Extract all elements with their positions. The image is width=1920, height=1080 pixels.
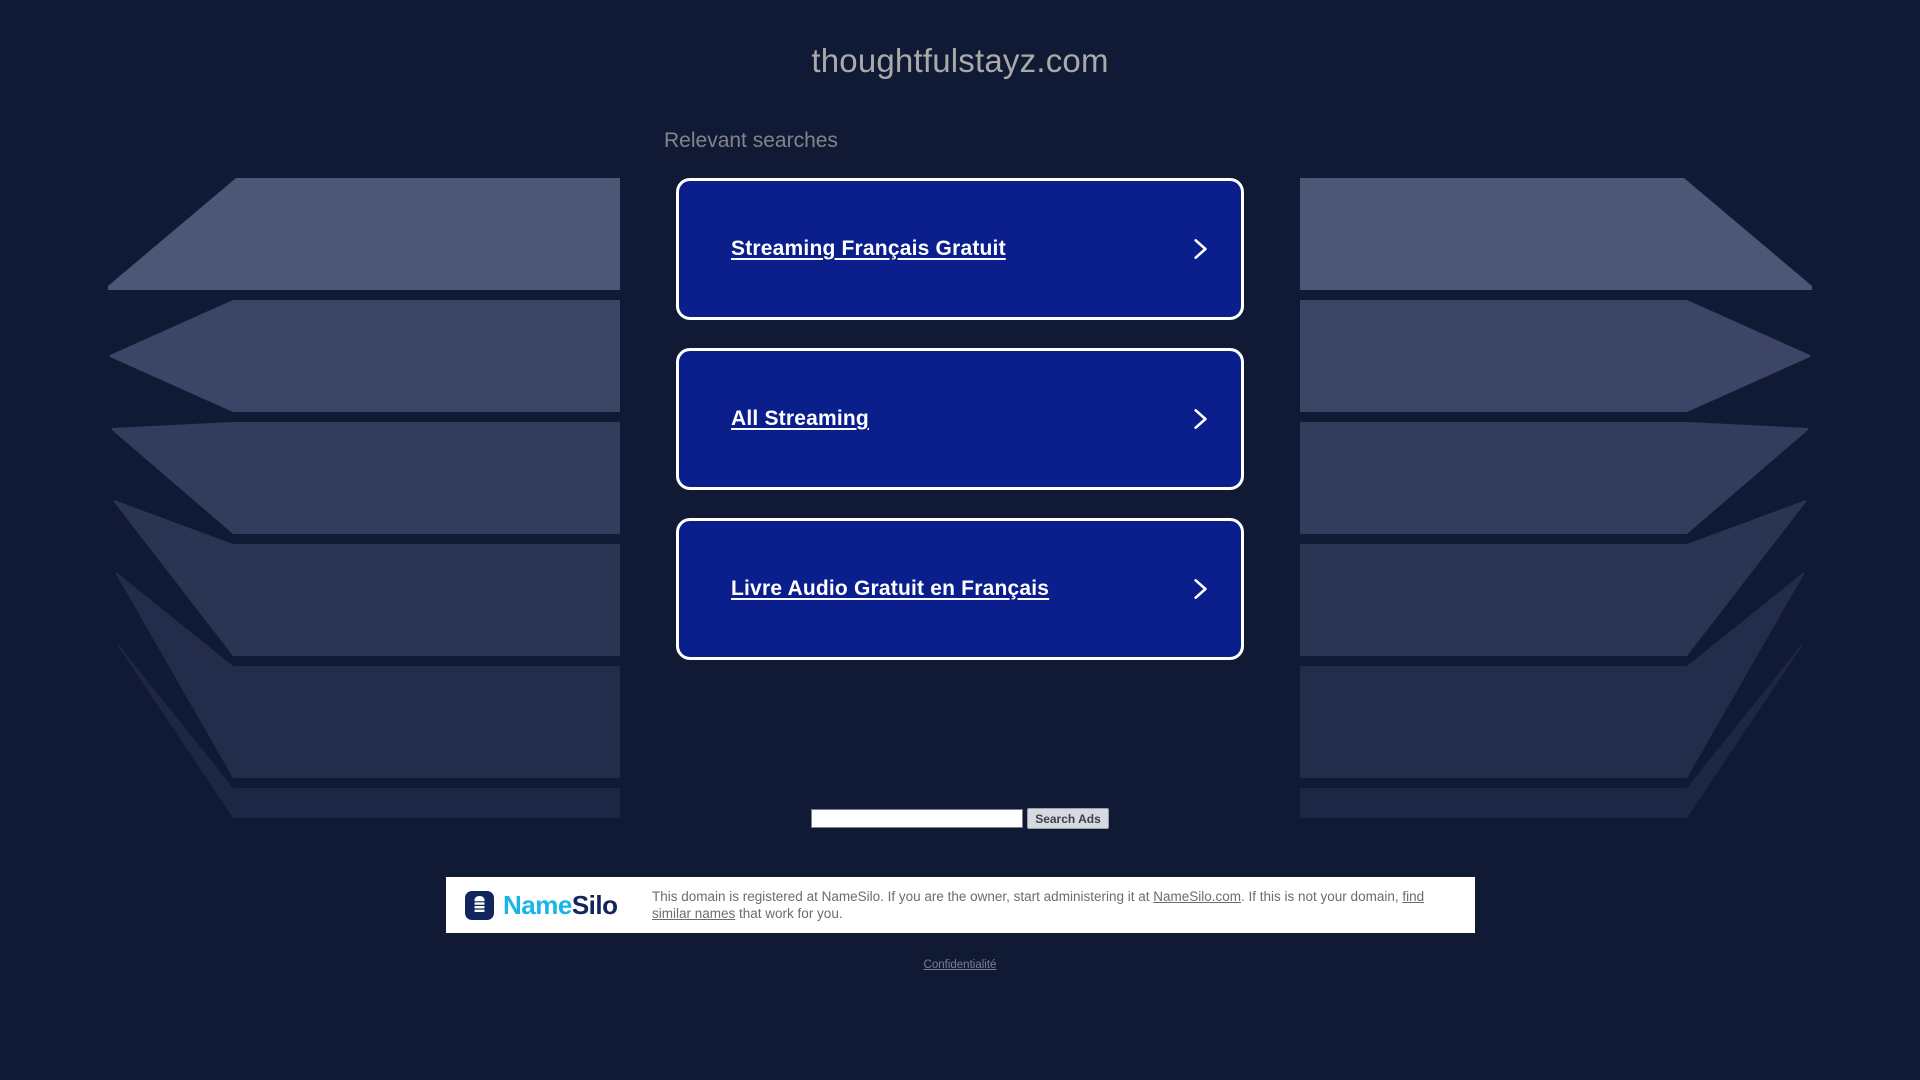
chevron-right-icon — [1187, 576, 1213, 602]
page-title: thoughtfulstayz.com — [0, 42, 1920, 80]
silo-icon — [465, 891, 494, 920]
chevron-right-icon — [1187, 236, 1213, 262]
ad-link-label-1[interactable]: Streaming Français Gratuit — [731, 237, 1006, 261]
search-input[interactable] — [811, 809, 1023, 828]
namesilo-banner: NameSilo This domain is registered at Na… — [446, 877, 1475, 933]
privacy-link[interactable]: Confidentialité — [924, 959, 997, 971]
namesilo-text-part-1: This domain is registered at NameSilo. I… — [652, 889, 1153, 904]
privacy-link-row: Confidentialité — [0, 955, 1920, 973]
search-row: Search Ads — [0, 808, 1920, 829]
namesilo-description: This domain is registered at NameSilo. I… — [652, 888, 1452, 922]
namesilo-wordmark-silo: Silo — [572, 890, 618, 920]
namesilo-text-part-2: . If this is not your domain, — [1241, 889, 1402, 904]
relevant-searches-heading: Relevant searches — [664, 129, 838, 153]
namesilo-logo: NameSilo — [465, 890, 640, 921]
ad-link-label-3[interactable]: Livre Audio Gratuit en Français — [731, 577, 1049, 601]
relevant-searches-list: Streaming Français Gratuit All Streaming… — [676, 178, 1244, 688]
chevron-right-icon — [1187, 406, 1213, 432]
namesilo-com-link[interactable]: NameSilo.com — [1153, 889, 1241, 904]
page-root: thoughtfulstayz.com Relevant searches St… — [0, 0, 1920, 1080]
namesilo-text-part-3: that work for you. — [735, 906, 842, 921]
ad-link-card-3[interactable]: Livre Audio Gratuit en Français — [676, 518, 1244, 660]
ad-link-label-2[interactable]: All Streaming — [731, 407, 869, 431]
ad-link-card-2[interactable]: All Streaming — [676, 348, 1244, 490]
ad-link-card-1[interactable]: Streaming Français Gratuit — [676, 178, 1244, 320]
search-ads-button[interactable]: Search Ads — [1027, 808, 1109, 829]
namesilo-wordmark: NameSilo — [503, 890, 618, 921]
namesilo-wordmark-name: Name — [503, 890, 572, 920]
